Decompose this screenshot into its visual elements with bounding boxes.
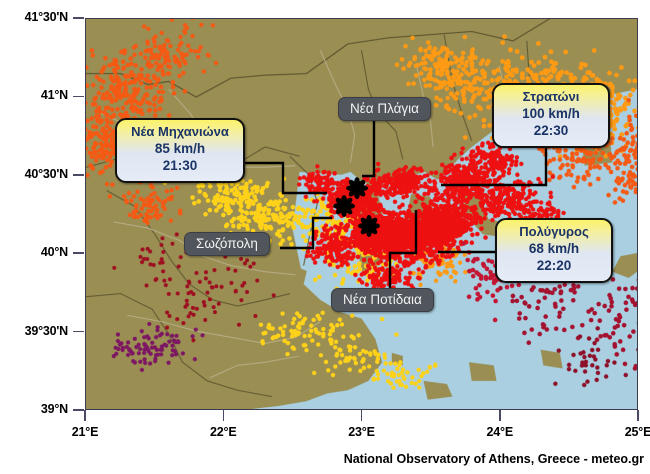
callout-nea-michaniona[interactable]: Νέα Μηχανιώνα 85 km/h 21:30 <box>115 118 245 183</box>
callout-wind-speed: 100 km/h <box>504 105 598 123</box>
callout-wind-speed: 85 km/h <box>127 140 233 158</box>
longitude-tick <box>223 410 225 421</box>
latitude-tick-label: 40°30'N <box>25 167 68 181</box>
callout-polygyros[interactable]: Πολύγυρος 68 km/h 22:20 <box>495 218 613 283</box>
longitude-tick <box>499 410 501 421</box>
longitude-tick <box>84 410 86 421</box>
figure-root: 41°30'N41°N40°30'N40°N39°30'N39°N 21°E22… <box>0 0 650 474</box>
latitude-tick <box>73 96 84 98</box>
callout-station-name: Πολύγυρος <box>507 224 601 240</box>
place-tag-nea-potidaia[interactable]: Νέα Ποτίδαια <box>331 288 434 312</box>
callout-stratoni[interactable]: Στρατώνι 100 km/h 22:30 <box>492 83 610 148</box>
longitude-tick <box>361 410 363 421</box>
longitude-tick-label: 22°E <box>193 425 253 439</box>
place-tag-nea-plagia[interactable]: Νέα Πλάγια <box>338 97 431 121</box>
lightning-density-map <box>86 19 637 409</box>
latitude-tick <box>73 331 84 333</box>
callout-station-name: Νέα Μηχανιώνα <box>127 124 233 140</box>
longitude-tick <box>637 410 639 421</box>
latitude-tick-label: 41°N <box>41 88 68 102</box>
callout-time: 21:30 <box>127 157 233 175</box>
latitude-tick-label: 40°N <box>41 245 68 259</box>
latitude-tick-label: 39°N <box>41 402 68 416</box>
longitude-tick-label: 25°E <box>608 425 650 439</box>
longitude-tick-label: 21°E <box>55 425 115 439</box>
longitude-tick-label: 24°E <box>470 425 530 439</box>
map-panel[interactable] <box>85 18 638 410</box>
longitude-tick-label: 23°E <box>332 425 392 439</box>
latitude-tick-label: 41°30'N <box>25 10 68 24</box>
latitude-tick <box>73 17 84 19</box>
callout-wind-speed: 68 km/h <box>507 240 601 258</box>
place-tag-sozopoli[interactable]: Σωζόπολη <box>184 232 270 256</box>
latitude-tick <box>73 174 84 176</box>
latitude-tick <box>73 409 84 411</box>
attribution-text: National Observatory of Athens, Greece -… <box>344 452 644 466</box>
callout-time: 22:20 <box>507 257 601 275</box>
latitude-tick <box>73 252 84 254</box>
latitude-tick-label: 39°30'N <box>25 324 68 338</box>
callout-station-name: Στρατώνι <box>504 89 598 105</box>
callout-time: 22:30 <box>504 122 598 140</box>
